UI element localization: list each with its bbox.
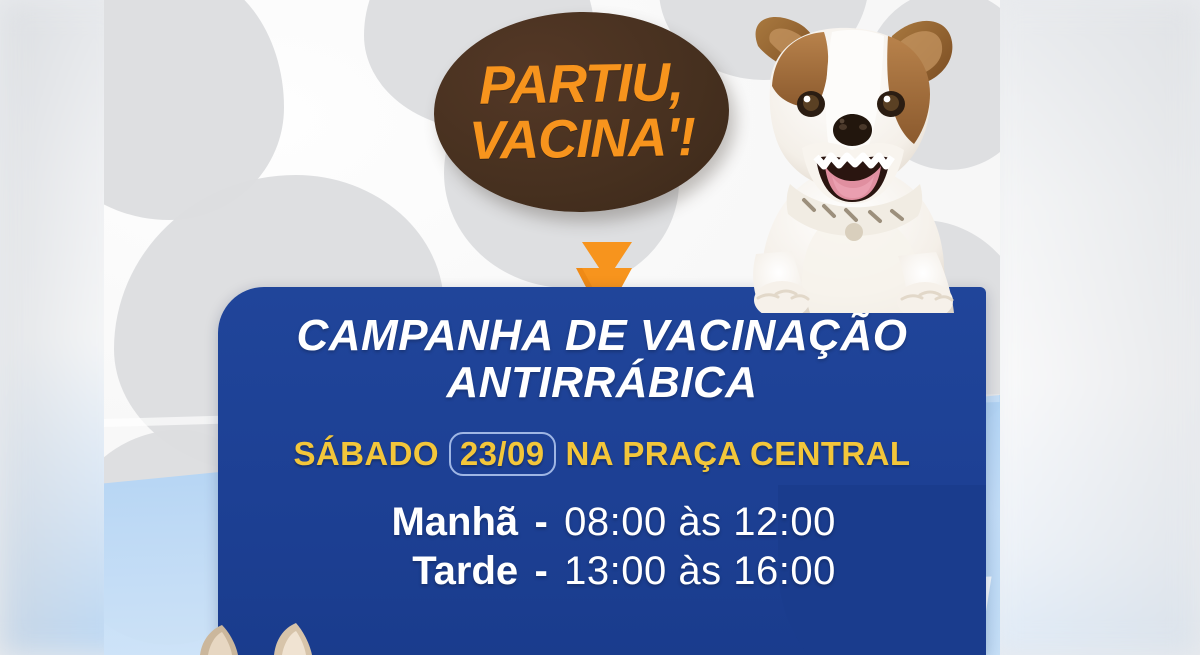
date-badge: 23/09 xyxy=(449,432,556,476)
schedule-dash-afternoon: - xyxy=(528,549,554,594)
campaign-title-line-1: CAMPANHA DE VACINAÇÃO xyxy=(218,313,986,360)
schedule-dash-morning: - xyxy=(528,500,554,545)
cat-ears-peeking-icon xyxy=(190,621,330,655)
location-label: NA PRAÇA CENTRAL xyxy=(566,435,911,473)
weekday-label: SÁBADO xyxy=(294,435,439,473)
badge-line-2: VACINA'! xyxy=(469,111,696,168)
schedule-label-afternoon: Tarde xyxy=(368,549,518,594)
schedule-list: Manhã - 08:00 às 12:00 Tarde - 13:00 às … xyxy=(218,500,986,594)
letterbox-pillar-right xyxy=(990,0,1200,655)
schedule-value-morning: 08:00 às 12:00 xyxy=(564,500,836,545)
campaign-info-panel: CAMPANHA DE VACINAÇÃO ANTIRRÁBICA SÁBADO… xyxy=(218,287,986,655)
poster-screenshot: PH PARTIU, VACINA'! xyxy=(0,0,1200,655)
schedule-label-morning: Manhã xyxy=(368,500,518,545)
schedule-row-morning: Manhã - 08:00 às 12:00 xyxy=(368,500,836,545)
campaign-title-line-2: ANTIRRÁBICA xyxy=(218,360,986,407)
vaccination-campaign-poster: PH PARTIU, VACINA'! xyxy=(104,0,1000,655)
schedule-row-afternoon: Tarde - 13:00 às 16:00 xyxy=(368,549,836,594)
date-location-line: SÁBADO 23/09 NA PRAÇA CENTRAL xyxy=(218,432,986,476)
schedule-value-afternoon: 13:00 às 16:00 xyxy=(564,549,836,594)
badge-line-1: PARTIU, xyxy=(479,56,684,112)
